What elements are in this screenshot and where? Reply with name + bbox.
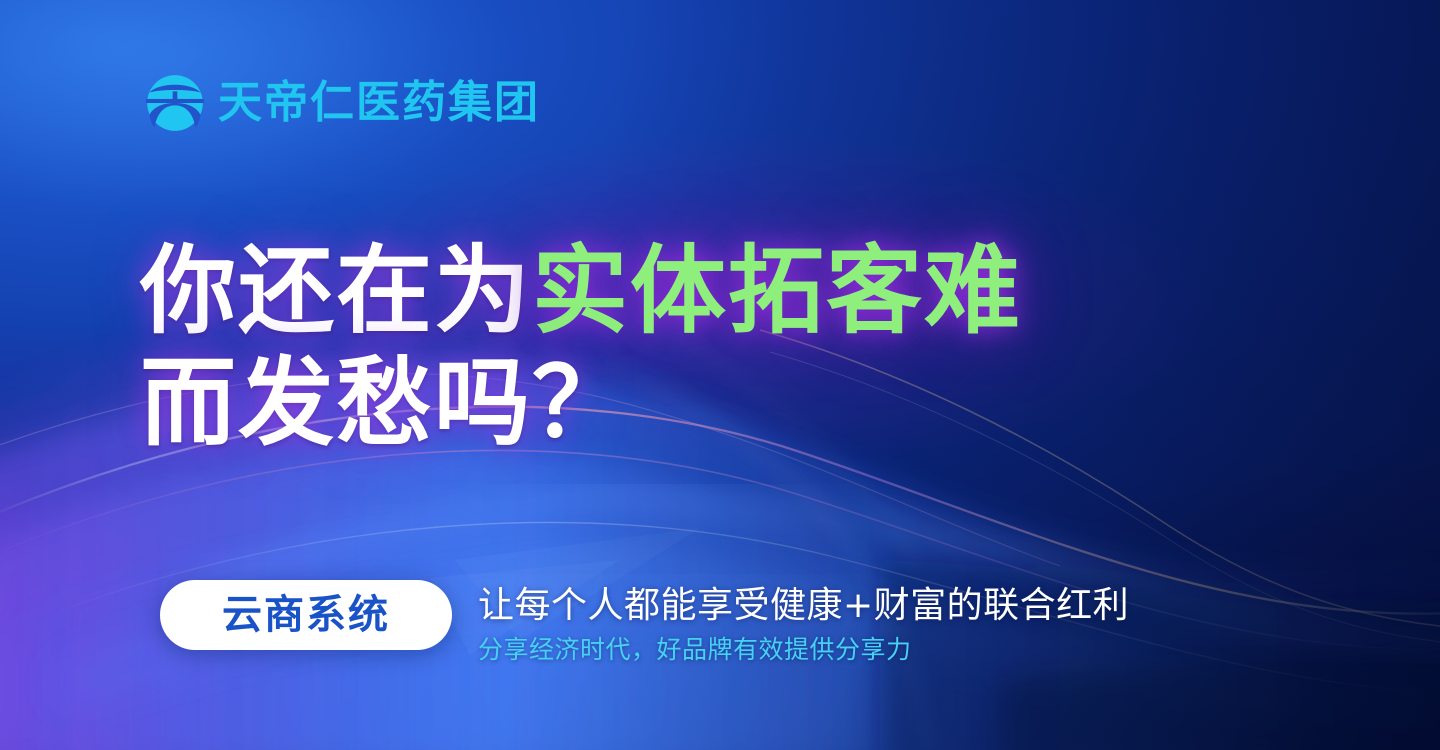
tagline-primary: 让每个人都能享受健康+财富的联合红利 — [478, 584, 1238, 627]
globe-circle-icon — [146, 74, 204, 132]
tagline-block: 让每个人都能享受健康+财富的联合红利 分享经济时代，好品牌有效提供分享力 — [478, 584, 1238, 665]
promo-banner: 天帝仁医药集团 你还在为实体拓客难 而发愁吗？ 云商系统 让每个人都能享受健康+… — [0, 0, 1440, 750]
tagline-secondary: 分享经济时代，好品牌有效提供分享力 — [478, 635, 1238, 665]
cloud-system-badge[interactable]: 云商系统 — [160, 580, 452, 650]
headline-block: 你还在为实体拓客难 而发愁吗？ — [140, 238, 1140, 457]
headline-line-1-white: 你还在为 — [140, 235, 532, 347]
headline-line-2: 而发愁吗？ — [140, 350, 1140, 458]
headline-line-1-highlight: 实体拓客难 — [532, 235, 1022, 347]
brand-logo-text: 天帝仁医药集团 — [218, 81, 540, 125]
brand-logo[interactable]: 天帝仁医药集团 — [146, 74, 540, 132]
cloud-system-badge-label: 云商系统 — [222, 595, 390, 635]
headline-line-1: 你还在为实体拓客难 — [140, 238, 1140, 346]
